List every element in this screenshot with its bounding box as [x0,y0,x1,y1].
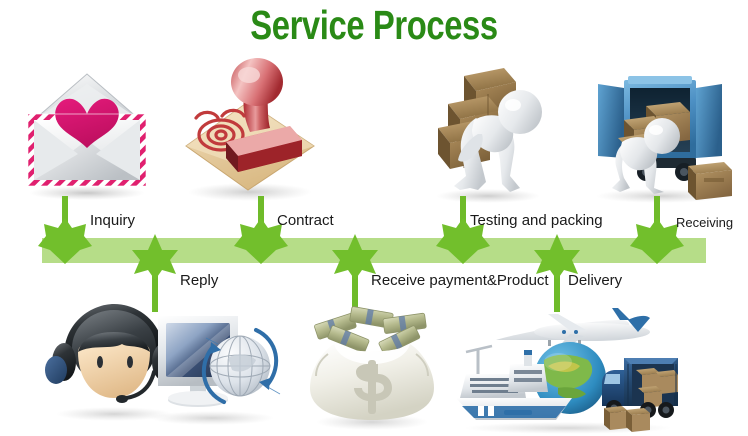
label-receiving: Receiving [676,214,733,231]
timeline-node-delivery[interactable] [528,232,588,302]
truck-unloading-icon [584,62,736,204]
label-testing-packing: Testing and packing [470,212,603,229]
timeline-node-receive-payment[interactable] [326,232,386,302]
timeline-node-testing-packing[interactable] [434,196,494,266]
label-receive-payment: Receive payment&Product [371,272,549,289]
label-delivery: Delivery [568,272,622,289]
timeline-node-inquiry[interactable] [36,196,96,266]
money-bag-icon [298,302,446,432]
timeline-node-contract[interactable] [232,196,292,266]
logistics-transport-icon [452,302,684,434]
rubber-stamp-icon [178,56,328,204]
label-contract: Contract [277,212,334,229]
service-process-infographic: Service Process [0,0,748,436]
label-inquiry: Inquiry [90,212,135,229]
label-reply: Reply [180,272,218,289]
timeline-node-reply[interactable] [126,232,186,302]
timeline-node-receiving[interactable] [628,196,688,266]
envelope-heart-icon [12,62,162,202]
support-agent-computer-icon [42,300,292,432]
page-title: Service Process [75,2,673,48]
worker-carrying-boxes-icon [424,64,554,206]
